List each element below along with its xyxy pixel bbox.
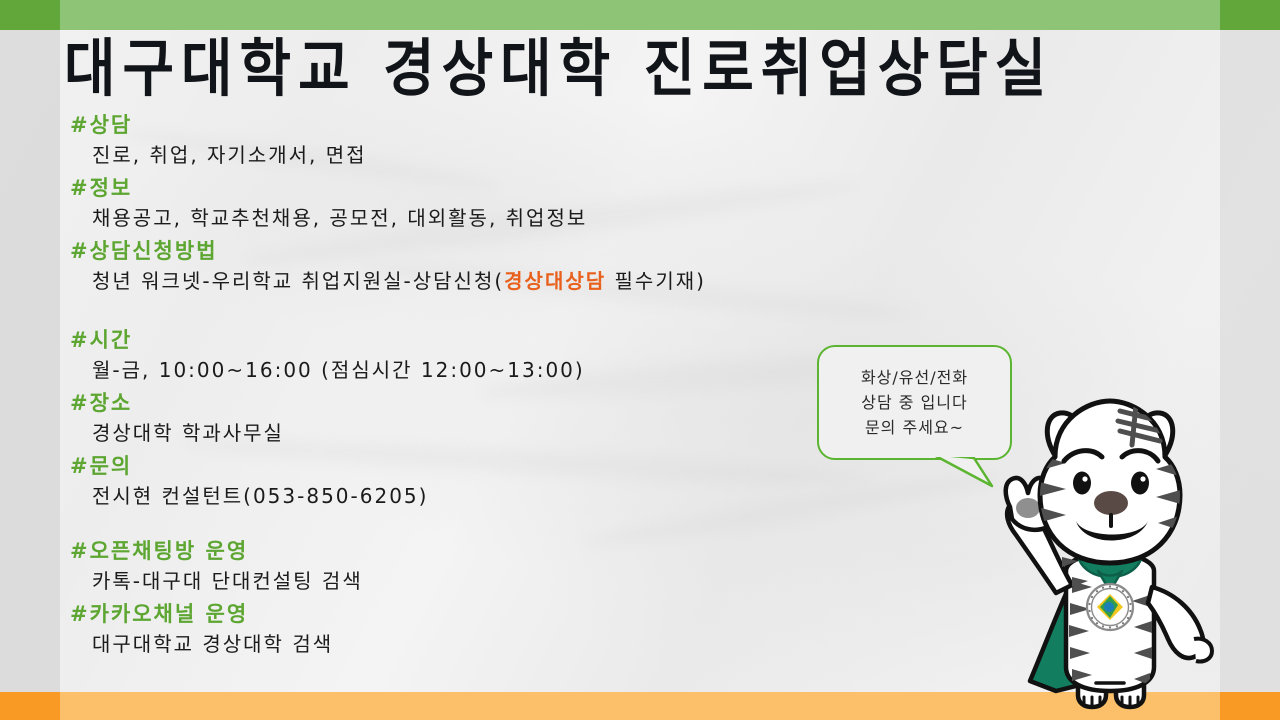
section-heading-open-chat: #오픈채팅방 운영 xyxy=(70,536,890,566)
section-heading-counseling: #상담 xyxy=(70,110,890,140)
section-heading-kakao-channel: #카카오채널 운영 xyxy=(70,599,890,629)
section-contact: #문의 전시현 컨설턴트(053-850-6205) xyxy=(70,451,890,511)
section-detail-how-to-apply: 청년 워크넷-우리학교 취업지원실-상담신청(경상대상담 필수기재) xyxy=(70,266,890,296)
apply-text-suffix: 필수기재) xyxy=(606,269,706,293)
speech-bubble-line-3: 문의 주세요~ xyxy=(865,415,964,440)
left-margin-strip xyxy=(0,30,60,692)
section-hours: #시간 월-금, 10:00~16:00 (점심시간 12:00~13:00) xyxy=(70,325,890,385)
spacer-1 xyxy=(70,299,890,325)
section-detail-location: 경상대학 학과사무실 xyxy=(70,418,890,448)
section-heading-information: #정보 xyxy=(70,173,890,203)
white-tiger-mascot xyxy=(960,395,1260,715)
spacer-2 xyxy=(70,514,890,536)
section-open-chat: #오픈채팅방 운영 카톡-대구대 단대컨설팅 검색 xyxy=(70,536,890,596)
section-detail-open-chat: 카톡-대구대 단대컨설팅 검색 xyxy=(70,566,890,596)
section-detail-information: 채용공고, 학교추천채용, 공모전, 대외활동, 취업정보 xyxy=(70,203,890,233)
top-green-band-right-cap xyxy=(1220,0,1280,30)
apply-text-prefix: 청년 워크넷-우리학교 취업지원실-상담신청( xyxy=(92,269,504,293)
tiger-illustration xyxy=(960,395,1260,715)
tiger-nose xyxy=(1094,491,1128,515)
content-body: #상담 진로, 취업, 자기소개서, 면접 #정보 채용공고, 학교추천채용, … xyxy=(70,110,890,662)
section-heading-how-to-apply: #상담신청방법 xyxy=(70,236,890,266)
section-how-to-apply: #상담신청방법 청년 워크넷-우리학교 취업지원실-상담신청(경상대상담 필수기… xyxy=(70,236,890,296)
section-heading-location: #장소 xyxy=(70,388,890,418)
section-location: #장소 경상대학 학과사무실 xyxy=(70,388,890,448)
speech-bubble-line-1: 화상/유선/전화 xyxy=(861,365,968,390)
top-green-band xyxy=(0,0,1280,30)
tiger-right-arm xyxy=(1148,587,1212,662)
tiger-eye-left xyxy=(1073,472,1091,495)
university-emblem-medallion xyxy=(1087,584,1133,630)
poster-canvas: 대구대학교 경상대학 진로취업상담실 #상담 진로, 취업, 자기소개서, 면접… xyxy=(0,0,1280,720)
section-counseling: #상담 진로, 취업, 자기소개서, 면접 xyxy=(70,110,890,170)
speech-bubble-line-2: 상담 중 입니다 xyxy=(861,390,968,415)
bottom-orange-band-left-cap xyxy=(0,692,60,720)
top-green-band-left-cap xyxy=(0,0,60,30)
page-title: 대구대학교 경상대학 진로취업상담실 xyxy=(64,32,1214,108)
section-heading-hours: #시간 xyxy=(70,325,890,355)
section-information: #정보 채용공고, 학교추천채용, 공모전, 대외활동, 취업정보 xyxy=(70,173,890,233)
section-detail-counseling: 진로, 취업, 자기소개서, 면접 xyxy=(70,140,890,170)
section-detail-kakao-channel: 대구대학교 경상대학 검색 xyxy=(70,629,890,659)
section-detail-contact: 전시현 컨설턴트(053-850-6205) xyxy=(70,481,890,511)
section-detail-hours: 월-금, 10:00~16:00 (점심시간 12:00~13:00) xyxy=(70,355,890,385)
tiger-eye-right xyxy=(1131,472,1149,495)
section-heading-contact: #문의 xyxy=(70,451,890,481)
section-kakao-channel: #카카오채널 운영 대구대학교 경상대학 검색 xyxy=(70,599,890,659)
apply-text-highlight: 경상대상담 xyxy=(504,269,606,293)
